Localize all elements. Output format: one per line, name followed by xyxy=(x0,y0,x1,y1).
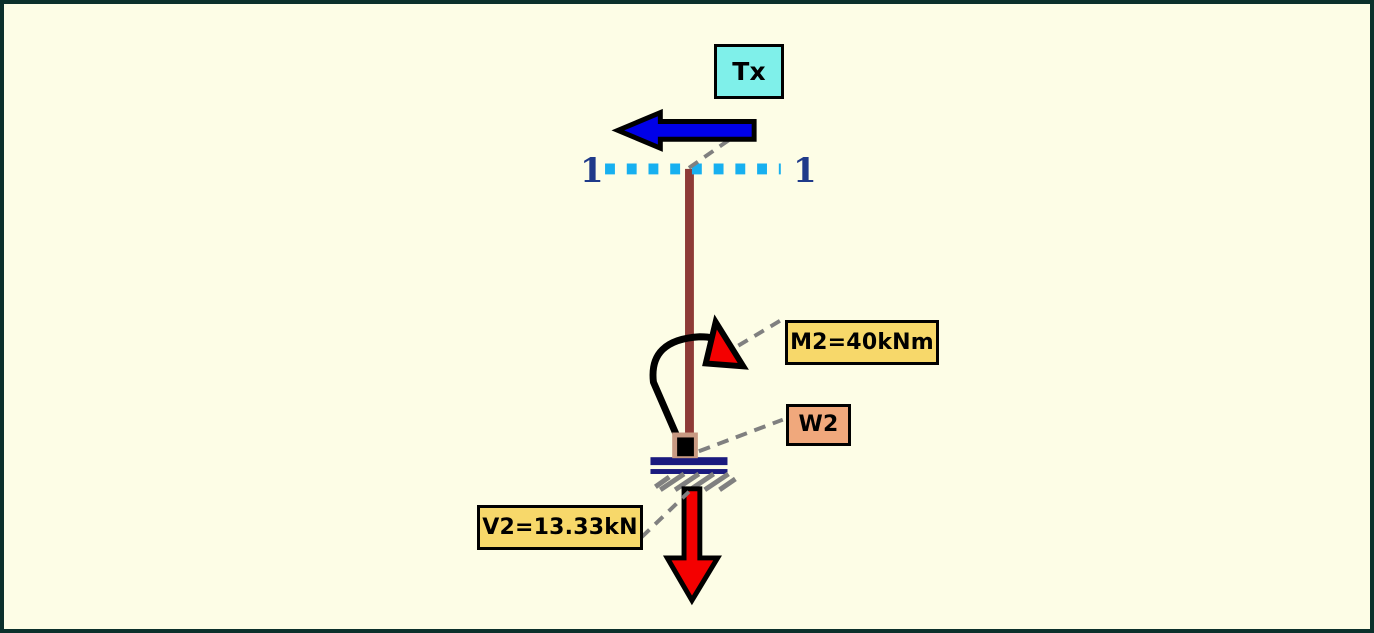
label-v2[interactable]: V2=13.33kN xyxy=(477,505,643,550)
label-tx[interactable]: Tx xyxy=(714,44,784,99)
section-mark-left: 1 xyxy=(580,154,604,188)
column-member xyxy=(685,169,694,448)
section-mark-right: 1 xyxy=(793,154,817,188)
label-w2[interactable]: W2 xyxy=(786,404,851,446)
diagram-vector-layer xyxy=(4,4,1370,629)
leader-line-m2 xyxy=(738,318,784,346)
base-node xyxy=(672,433,698,459)
label-m2[interactable]: M2=40kNm xyxy=(785,320,939,365)
moment-arrow xyxy=(653,322,743,450)
axial-force-arrow xyxy=(618,113,754,149)
diagram-canvas: 1 1 Tx M2=40kNm W2 V2=13.33kN xyxy=(0,0,1374,633)
leader-line-w2 xyxy=(699,420,783,452)
fixed-support-bars xyxy=(650,457,727,474)
